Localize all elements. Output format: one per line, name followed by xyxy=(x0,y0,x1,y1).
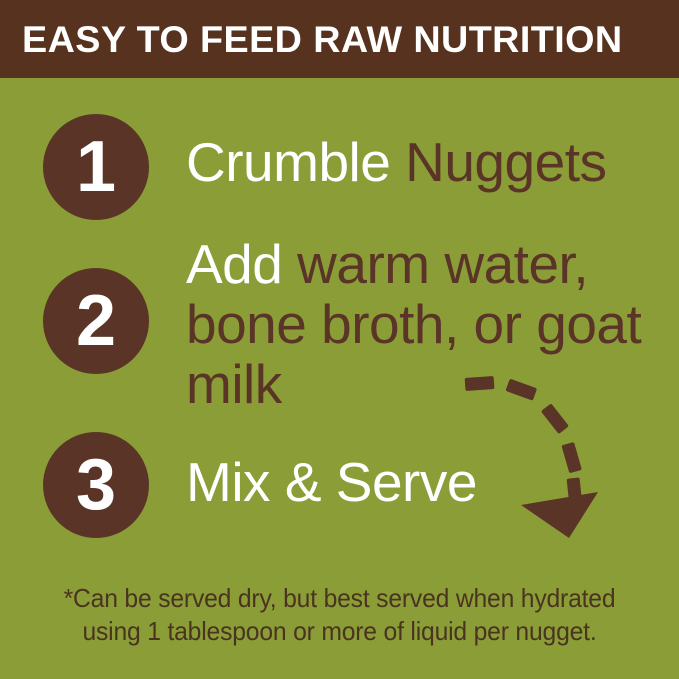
step-2-part-highlight: Add xyxy=(186,233,282,295)
footnote-line-1: *Can be served dry, but best served when… xyxy=(17,582,662,615)
step-number-badge-2: 2 xyxy=(43,268,149,374)
footnote: *Can be served dry, but best served when… xyxy=(0,582,679,648)
step-1-part-highlight: Crumble xyxy=(186,131,390,193)
poster-root: EASY TO FEED RAW NUTRITION 1 Crumble Nug… xyxy=(0,0,679,679)
page-title: EASY TO FEED RAW NUTRITION xyxy=(22,21,623,58)
step-text-1: Crumble Nuggets xyxy=(186,132,669,192)
step-item-1: 1 Crumble Nuggets xyxy=(0,100,679,224)
step-1-part-body: Nuggets xyxy=(405,131,606,193)
step-3-part-highlight: Mix & Serve xyxy=(186,451,477,513)
step-number-badge-3: 3 xyxy=(43,432,149,538)
step-number-badge-1: 1 xyxy=(43,114,149,220)
curved-dashed-arrow-icon xyxy=(465,372,605,522)
step-1-part-space xyxy=(390,131,405,193)
footnote-line-2: using 1 tablespoon or more of liquid per… xyxy=(17,615,662,648)
header-band: EASY TO FEED RAW NUTRITION xyxy=(0,0,679,78)
